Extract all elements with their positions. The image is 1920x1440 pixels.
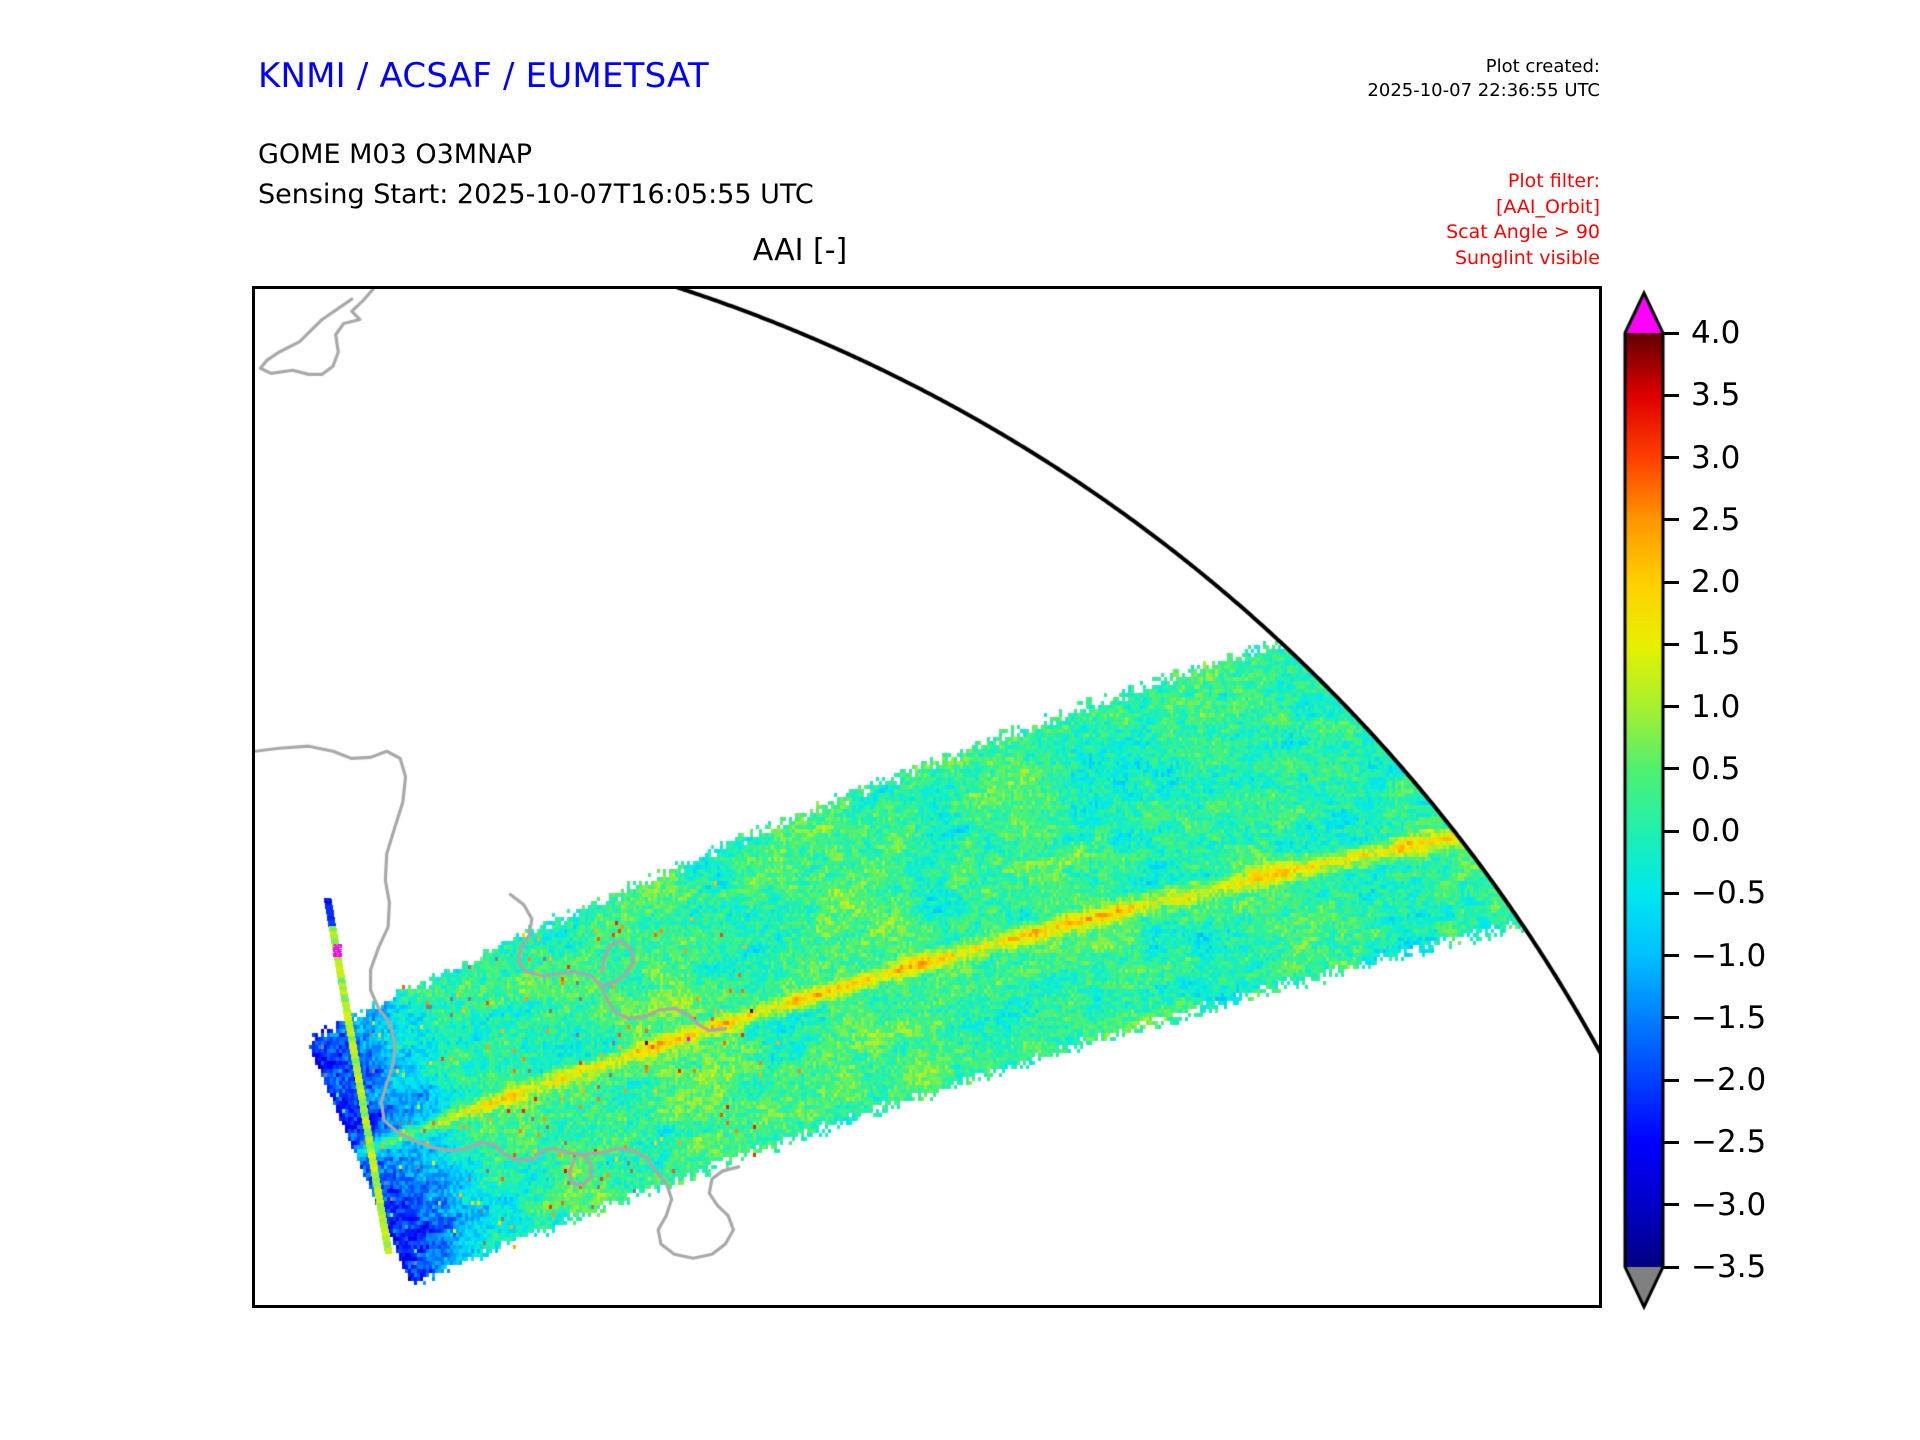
colorbar-tick xyxy=(1663,954,1679,957)
colorbar-tick xyxy=(1663,892,1679,895)
colorbar-tick-label: 3.0 xyxy=(1691,440,1740,476)
colorbar-tick xyxy=(1663,1141,1679,1144)
colorbar-tick xyxy=(1663,1016,1679,1019)
colorbar-tick xyxy=(1663,830,1679,833)
colorbar-tick-label: −3.0 xyxy=(1691,1187,1766,1223)
colorbar-tick xyxy=(1663,581,1679,584)
colorbar-tick-label: 2.0 xyxy=(1691,564,1740,600)
colorbar-tick-label: 0.0 xyxy=(1691,813,1740,849)
colorbar-tick xyxy=(1663,643,1679,646)
plot-filter-label: Plot filter: xyxy=(1446,169,1600,195)
colorbar-tick-label: −0.5 xyxy=(1691,875,1766,911)
colorbar-tick-label: 0.5 xyxy=(1691,751,1740,787)
page-title: AAI [-] xyxy=(0,233,1600,268)
colorbar-tick-label: 2.5 xyxy=(1691,502,1740,538)
colorbar-tick-label: 1.0 xyxy=(1691,689,1740,725)
colorbar-tick-label: 4.0 xyxy=(1691,315,1740,351)
plot-filter-sunglint: Sunglint visible xyxy=(1446,246,1600,272)
plot-page: KNMI / ACSAF / EUMETSAT GOME M03 O3MNAP … xyxy=(0,0,1920,1440)
colorbar-tick-label: −1.5 xyxy=(1691,1000,1766,1036)
colorbar-tick xyxy=(1663,1079,1679,1082)
colorbar-tick-label: −2.5 xyxy=(1691,1124,1766,1160)
plot-created-block: Plot created: 2025-10-07 22:36:55 UTC xyxy=(1367,55,1600,103)
colorbar-tick xyxy=(1663,705,1679,708)
colorbar-tick xyxy=(1663,456,1679,459)
aai-swath-heatmap xyxy=(255,289,1599,1305)
plot-filter-block: Plot filter: [AAI_Orbit] Scat Angle > 90… xyxy=(1446,169,1600,272)
organisation-title: KNMI / ACSAF / EUMETSAT xyxy=(258,56,709,96)
colorbar-tick-label: −3.5 xyxy=(1691,1249,1766,1285)
colorbar-tick-label: 3.5 xyxy=(1691,377,1740,413)
plot-filter-scat-angle: Scat Angle > 90 xyxy=(1446,220,1600,246)
plot-filter-orbit: [AAI_Orbit] xyxy=(1446,195,1600,221)
colorbar-tick xyxy=(1663,767,1679,770)
colorbar[interactable]: 4.03.53.02.52.01.51.00.50.0−0.5−1.0−1.5−… xyxy=(1613,285,1873,1315)
colorbar-tick xyxy=(1663,1203,1679,1206)
colorbar-tick-label: 1.5 xyxy=(1691,626,1740,662)
colorbar-tick-label: −2.0 xyxy=(1691,1062,1766,1098)
colorbar-tick xyxy=(1663,518,1679,521)
sensing-start: Sensing Start: 2025-10-07T16:05:55 UTC xyxy=(258,179,814,210)
colorbar-gradient xyxy=(1613,285,1873,1315)
colorbar-tick xyxy=(1663,394,1679,397)
plot-created-timestamp: 2025-10-07 22:36:55 UTC xyxy=(1367,79,1600,103)
map-plot-area[interactable] xyxy=(252,286,1602,1308)
colorbar-tick xyxy=(1663,332,1679,335)
product-title: GOME M03 O3MNAP xyxy=(258,139,532,170)
colorbar-tick-label: −1.0 xyxy=(1691,938,1766,974)
colorbar-tick xyxy=(1663,1266,1679,1269)
plot-created-label: Plot created: xyxy=(1367,55,1600,79)
